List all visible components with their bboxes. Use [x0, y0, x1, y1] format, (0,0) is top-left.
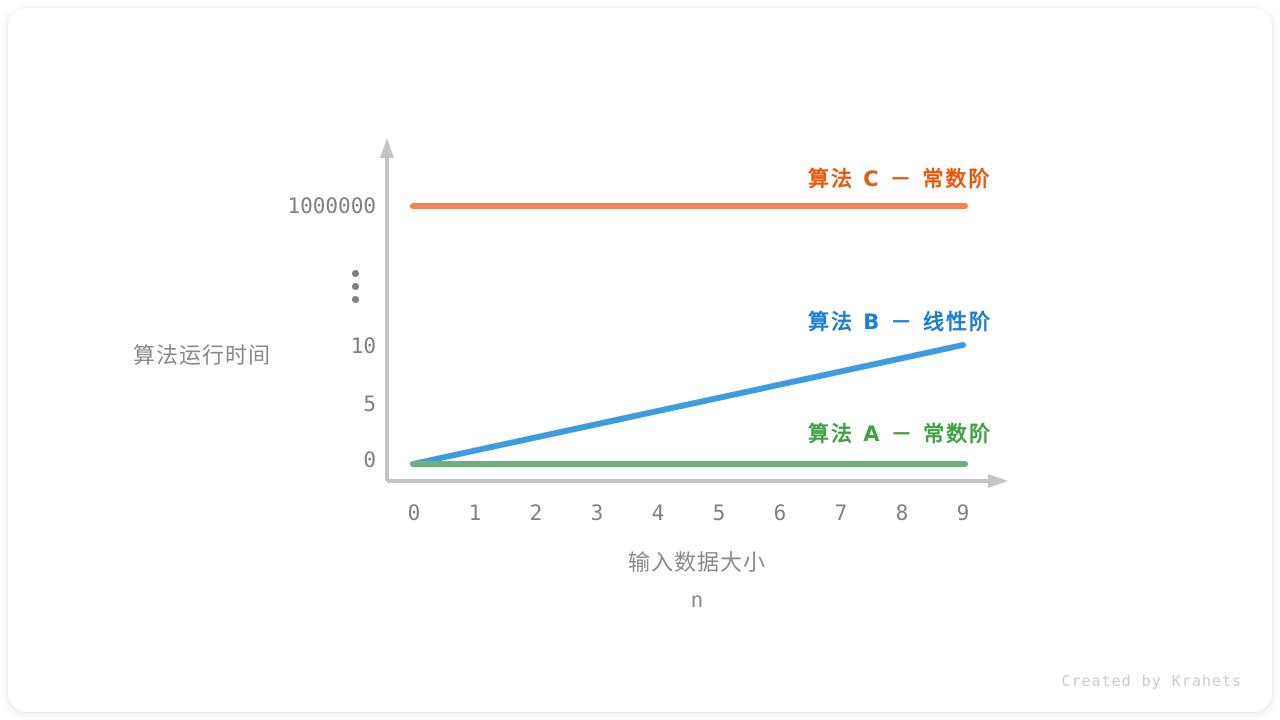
chart-plot-area: 1000000 10 5 0 0 1 2 3 4 5 6 7 8 9 算法运行时… [8, 8, 1272, 712]
chart-card: 1000000 10 5 0 0 1 2 3 4 5 6 7 8 9 算法运行时… [8, 8, 1272, 712]
x-axis-title-main: 输入数据大小 [628, 551, 766, 576]
x-tick-label-0: 0 [408, 501, 421, 525]
x-tick-label-3: 3 [591, 501, 604, 525]
x-tick-label-5: 5 [713, 501, 726, 525]
x-axis-title-variable: n [597, 582, 797, 618]
credit-text: Created by Krahets [1061, 672, 1242, 690]
x-axis [387, 474, 1008, 488]
x-tick-label-7: 7 [835, 501, 848, 525]
series-label-a: 算法 A － 常数阶 [808, 418, 992, 448]
x-tick-label-8: 8 [896, 501, 909, 525]
x-tick-label-1: 1 [469, 501, 482, 525]
series-label-c: 算法 C － 常数阶 [808, 163, 991, 193]
y-axis-break-ellipsis-icon [352, 270, 359, 303]
y-axis [380, 138, 394, 481]
y-axis-title: 算法运行时间 [133, 338, 271, 370]
x-tick-label-6: 6 [774, 501, 787, 525]
x-tick-label-2: 2 [530, 501, 543, 525]
y-tick-label-10: 10 [258, 334, 376, 358]
y-tick-label-1000000: 1000000 [258, 194, 376, 218]
x-tick-label-9: 9 [957, 501, 970, 525]
x-axis-title: 输入数据大小 n [597, 546, 797, 618]
series-label-b: 算法 B － 线性阶 [808, 306, 992, 336]
y-tick-label-5: 5 [258, 392, 376, 416]
y-tick-label-0: 0 [258, 448, 376, 472]
x-tick-label-4: 4 [652, 501, 665, 525]
